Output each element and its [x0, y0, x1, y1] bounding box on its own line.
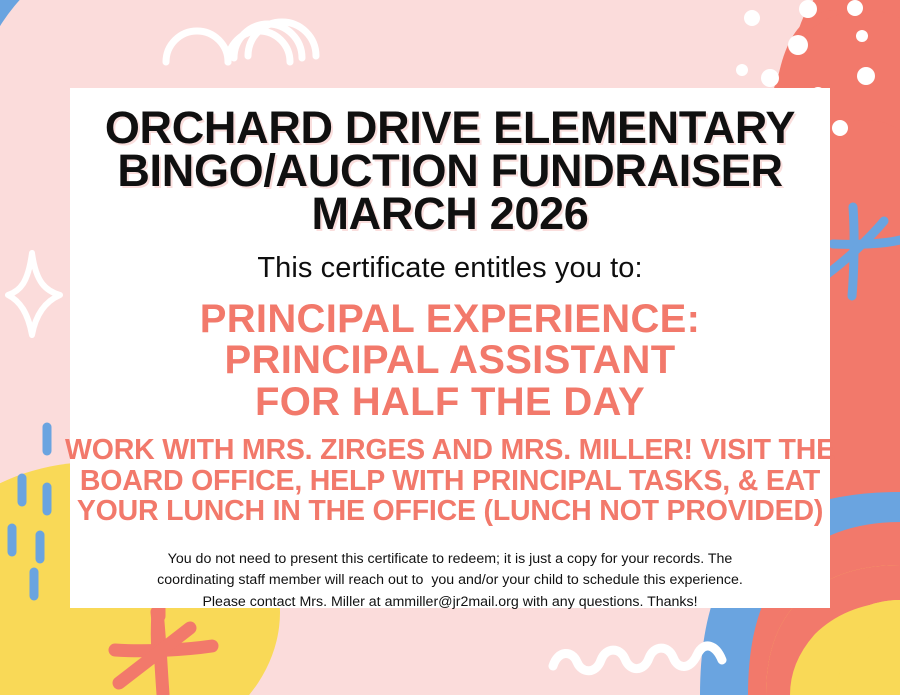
fineprint-line-3: Please contact Mrs. Miller at ammiller@j…	[157, 592, 743, 614]
title-line-3: MARCH 2026	[105, 192, 795, 235]
coral-asterisk-bottom-left-icon	[115, 604, 212, 694]
details-line-1: WORK WITH MRS. ZIRGES AND MRS. MILLER! V…	[65, 435, 835, 465]
sparkle-left-icon	[8, 253, 60, 335]
award-line-1: PRINCIPAL EXPERIENCE:	[200, 299, 700, 341]
award-heading: PRINCIPAL EXPERIENCE: PRINCIPAL ASSISTAN…	[200, 299, 700, 424]
scalloped-arches-icon	[166, 24, 302, 62]
fineprint-line-1: You do not need to present this certific…	[157, 549, 743, 571]
page-title: ORCHARD DRIVE ELEMENTARY BINGO/AUCTION F…	[105, 106, 795, 236]
award-line-2: PRINCIPAL ASSISTANT	[200, 340, 700, 382]
title-line-1: ORCHARD DRIVE ELEMENTARY	[105, 106, 795, 149]
fineprint-line-2: coordinating staff member will reach out…	[157, 570, 743, 592]
white-squiggle-icon	[553, 646, 722, 671]
sparkle-right-icon	[840, 503, 886, 572]
blue-asterisk-right-icon	[826, 207, 900, 296]
entitles-subtitle: This certificate entitles you to:	[257, 252, 642, 285]
scalloped-arches-icon-2	[248, 22, 316, 56]
fineprint-note: You do not need to present this certific…	[157, 549, 743, 614]
certificate-card: ORCHARD DRIVE ELEMENTARY BINGO/AUCTION F…	[70, 88, 830, 608]
details-line-2: BOARD OFFICE, HELP WITH PRINCIPAL TASKS,…	[65, 466, 835, 496]
award-details: WORK WITH MRS. ZIRGES AND MRS. MILLER! V…	[65, 435, 835, 526]
title-line-2: BINGO/AUCTION FUNDRAISER	[105, 149, 795, 192]
details-line-3: YOUR LUNCH IN THE OFFICE (LUNCH NOT PROV…	[65, 496, 835, 526]
award-line-3: FOR HALF THE DAY	[200, 382, 700, 424]
certificate-poster: ORCHARD DRIVE ELEMENTARY BINGO/AUCTION F…	[0, 0, 900, 695]
